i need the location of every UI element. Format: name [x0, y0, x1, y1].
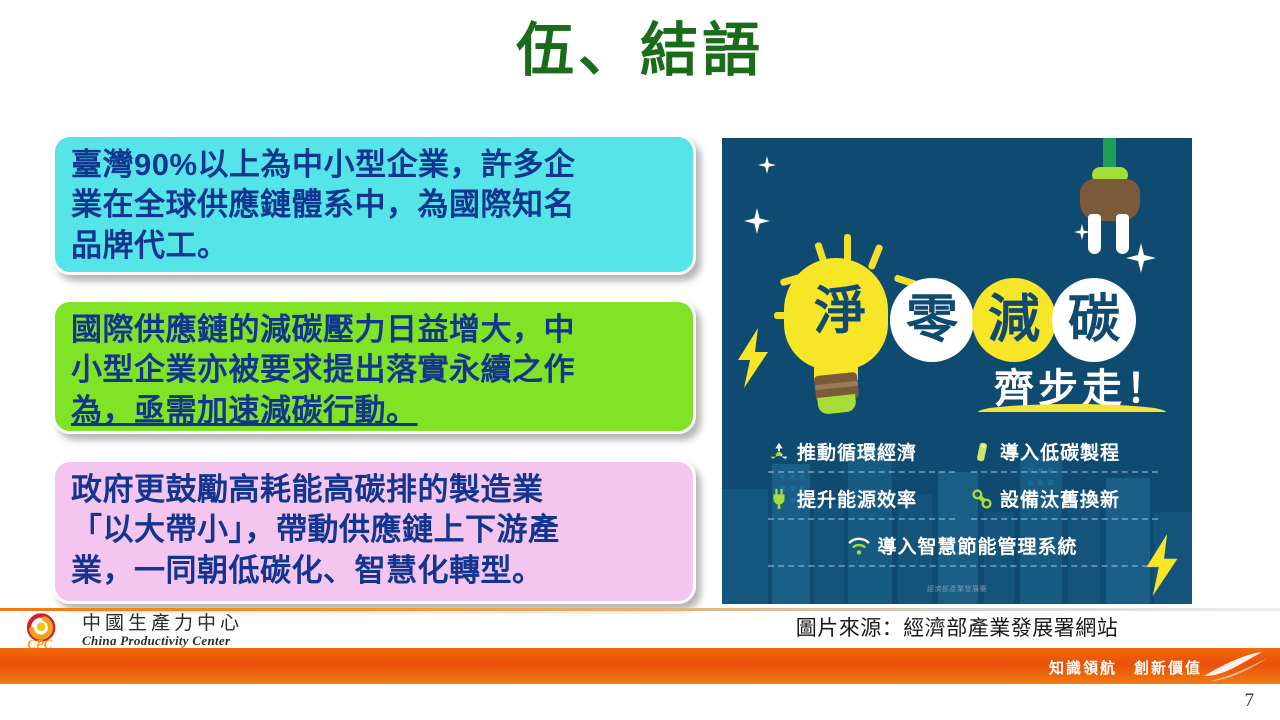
lightning-bolt-icon	[734, 328, 774, 388]
headline-char-tan: 碳	[1052, 278, 1136, 362]
bullet-item-smart-energy-system: 導入智慧節能管理系統	[768, 532, 1158, 567]
headline-char-jing: 淨	[814, 286, 866, 338]
bullet-row: 提升能源效率 設備汰舊換新	[768, 485, 1158, 520]
headline-char-ling: 零	[890, 278, 974, 362]
bullet-label: 提升能源效率	[797, 485, 917, 512]
headline-char-jian: 減	[972, 278, 1056, 362]
callout-line: 品牌代工。	[71, 226, 679, 266]
sparkle-icon	[744, 208, 770, 234]
callout-line: 業，一同朝低碳化、智慧化轉型。	[71, 551, 679, 591]
bullet-label: 導入低碳製程	[1000, 438, 1120, 465]
bullet-item-low-carbon-process: 導入低碳製程	[971, 438, 1158, 473]
bullet-label: 導入智慧節能管理系統	[877, 532, 1077, 559]
callout-line: 「以大帶小」，帶動供應鏈上下游產	[71, 510, 679, 550]
bulb-tip	[817, 394, 857, 415]
footer-tagline: 知識領航 創新價值	[1049, 657, 1202, 678]
footer-orange-bar: 知識領航 創新價值	[0, 648, 1280, 684]
callout-line: 業在全球供應鏈體系中，為國際知名	[71, 185, 679, 225]
callout-line: 小型企業亦被要求提出落實永續之作	[71, 350, 679, 390]
plug-icon	[768, 488, 790, 510]
infographic-credit-watermark: 經濟部產業發展署	[722, 584, 1192, 594]
callout-line: 國際供應鏈的減碳壓力日益增大，中	[71, 310, 679, 350]
recycle-icon	[768, 441, 790, 463]
gears-icon	[971, 488, 993, 510]
page-number: 7	[1245, 690, 1255, 712]
callout-box-government: 政府更鼓勵高耗能高碳排的製造業 「以大帶小」，帶動供應鏈上下游產 業，一同朝低碳…	[52, 459, 696, 604]
callout-line: 政府更鼓勵高耗能高碳排的製造業	[71, 470, 679, 510]
battery-icon	[971, 441, 993, 463]
bullet-row: 推動循環經濟 導入低碳製程	[768, 438, 1158, 473]
page-title: 伍、結語	[0, 18, 1280, 85]
callout-box-supply-chain: 國際供應鏈的減碳壓力日益增大，中 小型企業亦被要求提出落實永續之作 為，亟需加速…	[52, 299, 696, 434]
bullet-row: 導入智慧節能管理系統	[768, 532, 1158, 567]
bullet-label: 設備汰舊換新	[1000, 485, 1120, 512]
callout-line-underlined: 為，亟需加速減碳行動。	[71, 391, 679, 431]
callout-box-smes: 臺灣90%以上為中小型企業，許多企 業在全球供應鏈體系中，為國際知名 品牌代工。	[52, 134, 696, 275]
cpc-name-chinese: 中國生產力中心	[82, 614, 243, 634]
cpc-logo-icon: CPC	[22, 612, 74, 650]
image-source-caption: 圖片來源：經濟部產業發展署網站	[722, 612, 1192, 642]
sparkle-icon	[758, 156, 776, 174]
plug-prong	[1116, 214, 1129, 254]
footer-divider	[0, 608, 1280, 611]
power-plug-illustration	[1074, 138, 1144, 259]
net-zero-infographic: 淨 零 減 碳 齊步走！ 推動循環經濟 導入低碳製程	[722, 138, 1192, 604]
bullet-item-equipment-renewal: 設備汰舊換新	[971, 485, 1158, 520]
swoosh-ribbon-icon	[1200, 650, 1270, 682]
cpc-logo-block: CPC 中國生產力中心 China Productivity Center	[22, 612, 243, 650]
plug-prong	[1088, 214, 1101, 254]
bullet-item-recycle: 推動循環經濟	[768, 438, 955, 473]
bullet-item-energy-efficiency: 提升能源效率	[768, 485, 955, 520]
bullet-label: 推動循環經濟	[797, 438, 917, 465]
infographic-bullet-grid: 推動循環經濟 導入低碳製程 提升能源效率	[768, 438, 1158, 579]
cpc-name-english: China Productivity Center	[82, 634, 243, 648]
wifi-icon	[848, 535, 870, 557]
callout-line: 臺灣90%以上為中小型企業，許多企	[71, 145, 679, 185]
